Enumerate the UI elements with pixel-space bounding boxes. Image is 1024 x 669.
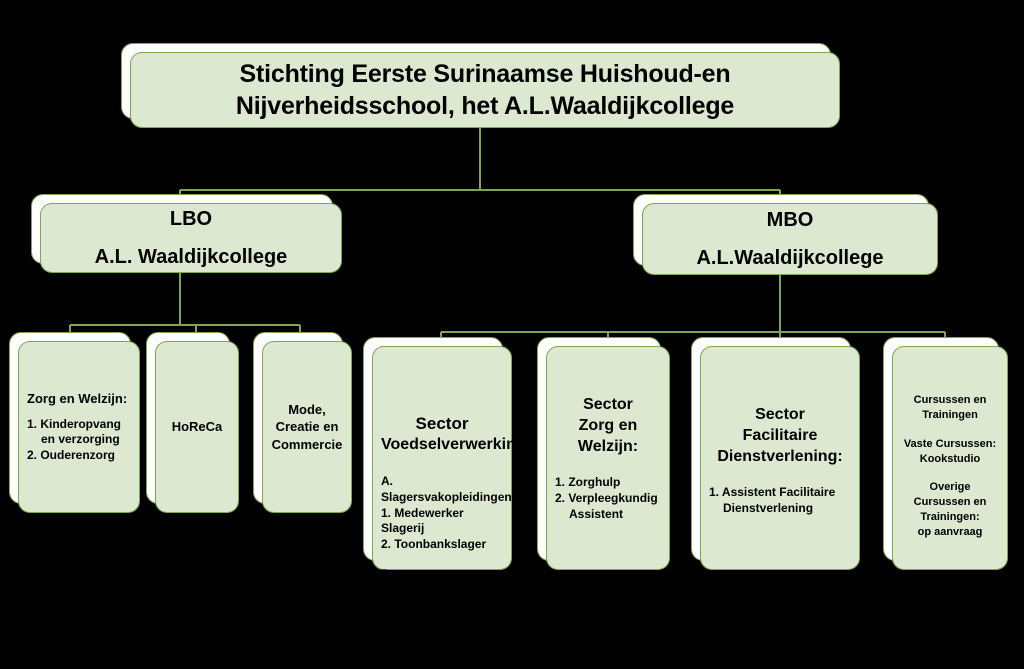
- node-mbo-sector-zorg-en-welzijn[interactable]: Sector Zorg en Welzijn: 1. Zorghulp 2. V…: [546, 346, 670, 570]
- node-mbo-sector-facilitaire-dienstverlening[interactable]: Sector Facilitaire Dienstverlening: 1. A…: [700, 346, 860, 570]
- lbo-child-1-heading: Zorg en Welzijn:: [27, 390, 131, 408]
- mbo-child-1-group-b-name: Keukenopleidingen: [381, 583, 503, 599]
- mbo-child-1-content: Sector Voedselverwerking A. Slagersvakop…: [373, 413, 511, 630]
- root-title: Stichting Eerste Surinaamse Huishoud-en …: [131, 58, 839, 122]
- spacer: [901, 423, 999, 437]
- mbo-child-4-title-line2: Trainingen: [901, 408, 999, 423]
- node-lbo[interactable]: LBO A.L. Waaldijkcollege: [40, 203, 342, 273]
- card-face: Cursussen en Trainingen Vaste Cursussen:…: [892, 346, 1008, 570]
- mbo-child-4-section2-label-line2: Trainingen:: [901, 510, 999, 525]
- node-lbo-mode-creatie-commercie[interactable]: Mode, Creatie en Commercie: [262, 341, 352, 513]
- mbo-child-2-title-line2: Zorg en: [555, 416, 661, 437]
- mbo-line1: MBO: [651, 201, 929, 239]
- lbo-child-1-item-1-cont: en verzorging: [27, 432, 131, 448]
- node-lbo-zorg-en-welzijn[interactable]: Zorg en Welzijn: 1. Kinderopvang en verz…: [18, 341, 140, 513]
- card-face: Sector Zorg en Welzijn: 1. Zorghulp 2. V…: [546, 346, 670, 570]
- lbo-child-3-content: Mode, Creatie en Commercie: [263, 401, 351, 454]
- mbo-child-3-item-1-cont: Dienstverlening: [709, 501, 851, 517]
- lbo-child-3-line3: Commercie: [271, 436, 343, 454]
- card-face: HoReCa: [155, 341, 239, 513]
- mbo-label: MBO A.L.Waaldijkcollege: [643, 201, 937, 277]
- mbo-child-1-title-line2: Voedselverwerking: [381, 435, 503, 456]
- root-title-line1: Stichting Eerste Surinaamse Huishoud-en: [139, 58, 831, 90]
- mbo-child-3-title-line1: Sector: [709, 405, 851, 426]
- mbo-child-2-item-1: 1. Zorghulp: [555, 475, 661, 491]
- mbo-child-2-item-2: 2. Verpleegkundig: [555, 491, 661, 507]
- mbo-child-4-title-line1: Cursussen en: [901, 393, 999, 408]
- card-face: Sector Facilitaire Dienstverlening: 1. A…: [700, 346, 860, 570]
- mbo-child-2-item-2-cont: Assistent: [555, 507, 661, 523]
- node-mbo[interactable]: MBO A.L.Waaldijkcollege: [642, 203, 938, 275]
- lbo-child-1-item-1: 1. Kinderopvang: [27, 417, 131, 433]
- mbo-child-1-group-b-item-1: 1. Keukenmedewerker: [381, 599, 503, 631]
- card-face: Zorg en Welzijn: 1. Kinderopvang en verz…: [18, 341, 140, 513]
- node-mbo-cursussen-en-trainingen[interactable]: Cursussen en Trainingen Vaste Cursussen:…: [892, 346, 1008, 570]
- mbo-child-3-item-1: 1. Assistent Facilitaire: [709, 485, 851, 501]
- lbo-line2: A.L. Waaldijkcollege: [49, 238, 333, 276]
- mbo-child-2-content: Sector Zorg en Welzijn: 1. Zorghulp 2. V…: [547, 395, 669, 523]
- mbo-child-1-group-a-item-2: 2. Toonbankslager: [381, 537, 503, 553]
- mbo-child-1-group-b-letter: B.: [381, 567, 503, 583]
- node-mbo-sector-voedselverwerking[interactable]: Sector Voedselverwerking A. Slagersvakop…: [372, 346, 512, 570]
- spacer: [709, 467, 851, 485]
- node-lbo-horeca[interactable]: HoReCa: [155, 341, 239, 513]
- mbo-child-4-section2-value: op aanvraag: [901, 525, 999, 540]
- mbo-child-4-section1-value: Kookstudio: [901, 452, 999, 467]
- spacer: [901, 466, 999, 480]
- spacer: [27, 408, 131, 417]
- mbo-child-1-title-line1: Sector: [381, 413, 503, 435]
- card-face: LBO A.L. Waaldijkcollege: [40, 203, 342, 273]
- card-face: Mode, Creatie en Commercie: [262, 341, 352, 513]
- card-face: Sector Voedselverwerking A. Slagersvakop…: [372, 346, 512, 570]
- lbo-child-1-content: Zorg en Welzijn: 1. Kinderopvang en verz…: [19, 390, 139, 464]
- root-title-line2: Nijverheidsschool, het A.L.Waaldijkcolle…: [139, 90, 831, 122]
- mbo-child-1-group-a-letter: A.: [381, 474, 503, 490]
- mbo-child-3-title-line2: Facilitaire: [709, 426, 851, 447]
- spacer: [555, 457, 661, 475]
- mbo-child-2-title-line3: Welzijn:: [555, 437, 661, 458]
- mbo-child-4-section1-label: Vaste Cursussen:: [901, 437, 999, 452]
- mbo-child-4-section2-label-line1: Overige Cursussen en: [901, 480, 999, 510]
- lbo-line1: LBO: [49, 200, 333, 238]
- lbo-child-2-heading: HoReCa: [156, 418, 238, 436]
- mbo-child-1-group-a-name: Slagersvakopleidingen: [381, 490, 503, 506]
- mbo-child-4-content: Cursussen en Trainingen Vaste Cursussen:…: [893, 393, 1007, 540]
- mbo-line2: A.L.Waaldijkcollege: [651, 239, 929, 277]
- spacer: [381, 553, 503, 567]
- mbo-child-3-content: Sector Facilitaire Dienstverlening: 1. A…: [701, 405, 859, 517]
- org-chart: Stichting Eerste Surinaamse Huishoud-en …: [0, 0, 1024, 669]
- lbo-child-1-item-2: 2. Ouderenzorg: [27, 448, 131, 464]
- mbo-child-3-title-line3: Dienstverlening:: [709, 447, 851, 468]
- lbo-child-3-line2: Creatie en: [271, 418, 343, 436]
- spacer: [381, 456, 503, 474]
- node-root[interactable]: Stichting Eerste Surinaamse Huishoud-en …: [130, 52, 840, 128]
- lbo-label: LBO A.L. Waaldijkcollege: [41, 200, 341, 276]
- lbo-child-3-line1: Mode,: [271, 401, 343, 419]
- card-face: Stichting Eerste Surinaamse Huishoud-en …: [130, 52, 840, 128]
- mbo-child-2-title-line1: Sector: [555, 395, 661, 416]
- card-face: MBO A.L.Waaldijkcollege: [642, 203, 938, 275]
- mbo-child-1-group-a-item-1: 1. Medewerker Slagerij: [381, 506, 503, 538]
